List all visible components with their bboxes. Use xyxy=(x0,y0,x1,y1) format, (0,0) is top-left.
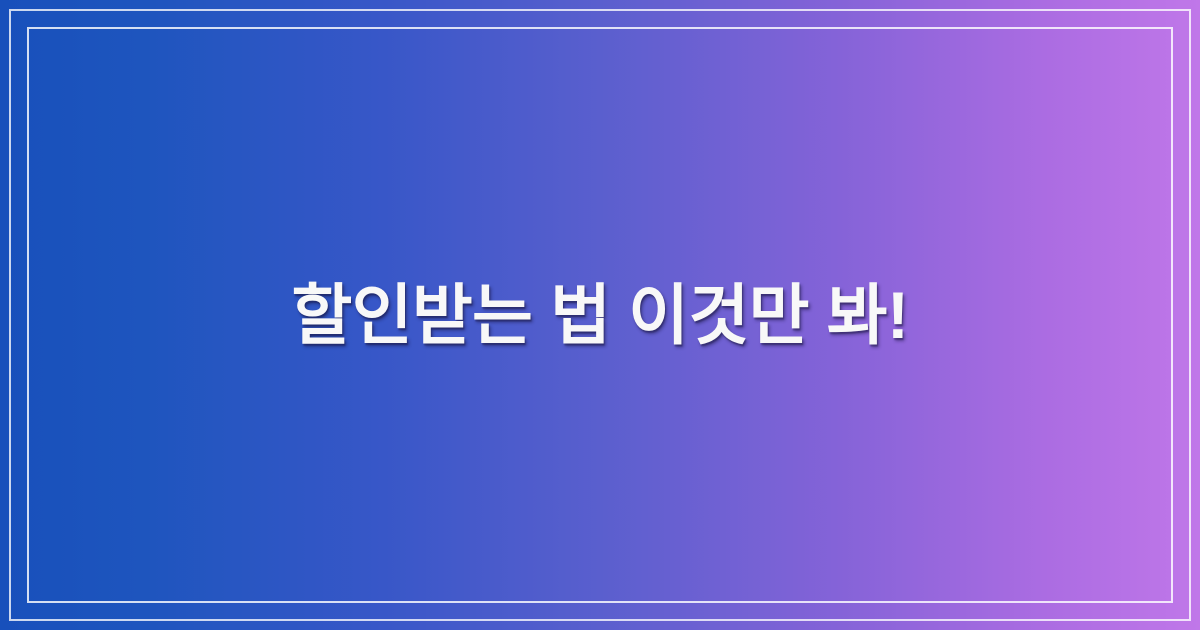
headline-container: 할인받는 법 이것만 봐! xyxy=(0,0,1200,630)
banner-headline: 할인받는 법 이것만 봐! xyxy=(292,273,909,357)
thumbnail-banner: 할인받는 법 이것만 봐! xyxy=(0,0,1200,630)
